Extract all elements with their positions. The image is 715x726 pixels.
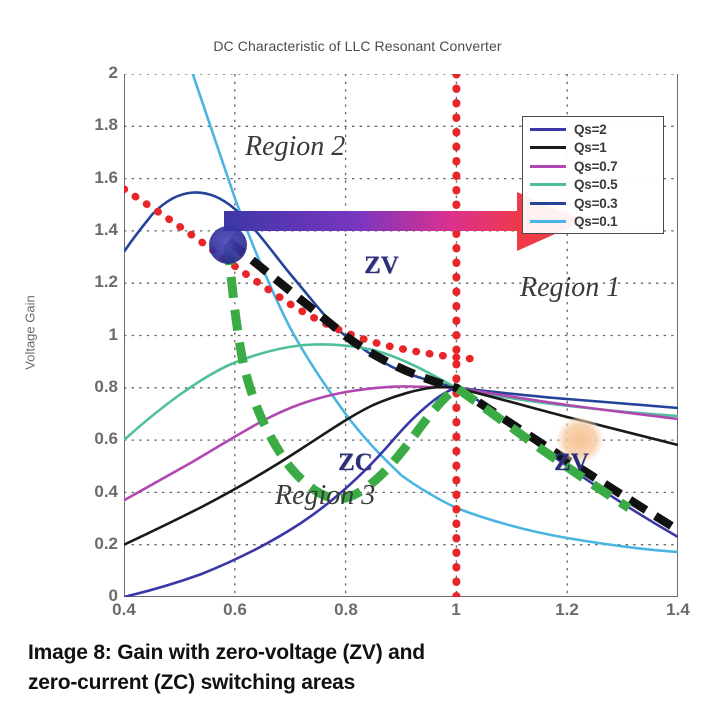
x-tick-0p4: 0.4 — [94, 600, 154, 620]
y-tick-1: 1 — [62, 325, 118, 345]
legend-item-qs2: Qs=2 — [523, 120, 663, 139]
legend-swatch-qs0p1 — [530, 220, 566, 223]
x-axis-ticks: 0.4 0.6 0.8 1 1.2 1.4 — [0, 600, 715, 630]
legend-swatch-qs0p5 — [530, 183, 566, 186]
legend-item-qs0p1: Qs=0.1 — [523, 213, 663, 232]
legend-swatch-qs0p7 — [530, 165, 566, 168]
annotation-zv-lower: ZV — [554, 449, 589, 477]
legend-label-qs0p7: Qs=0.7 — [574, 159, 617, 174]
legend-swatch-qs0p3 — [530, 202, 566, 205]
annotation-zc: ZC — [338, 449, 373, 477]
legend-label-qs2: Qs=2 — [574, 122, 607, 137]
series-qs1 — [124, 387, 678, 545]
legend-label-qs0p3: Qs=0.3 — [574, 196, 617, 211]
y-axis-ticks: 2 1.8 1.6 1.4 1.2 1 0.8 0.6 0.4 0.2 0 — [60, 30, 118, 630]
legend-item-qs1: Qs=1 — [523, 139, 663, 158]
x-tick-1: 1 — [426, 600, 486, 620]
y-tick-0p2: 0.2 — [62, 534, 118, 554]
y-axis-label: Voltage Gain — [23, 295, 38, 369]
x-tick-0p6: 0.6 — [205, 600, 265, 620]
annotation-region-3: Region 3 — [275, 480, 375, 512]
figure-caption: Image 8: Gain with zero-voltage (ZV) and… — [28, 638, 688, 698]
x-tick-1p4: 1.4 — [648, 600, 708, 620]
caption-line-1: Image 8: Gain with zero-voltage (ZV) and — [28, 638, 688, 668]
x-tick-1p2: 1.2 — [537, 600, 597, 620]
y-tick-1p6: 1.6 — [62, 168, 118, 188]
y-tick-1p8: 1.8 — [62, 115, 118, 135]
y-tick-2: 2 — [62, 63, 118, 83]
y-tick-0p8: 0.8 — [62, 377, 118, 397]
x-tick-0p8: 0.8 — [316, 600, 376, 620]
chart-legend: Qs=2 Qs=1 Qs=0.7 Qs=0.5 Qs=0.3 Qs=0.1 — [522, 116, 664, 234]
legend-label-qs0p5: Qs=0.5 — [574, 177, 617, 192]
legend-swatch-qs2 — [530, 128, 566, 131]
legend-label-qs0p1: Qs=0.1 — [574, 214, 617, 229]
marker-operating-point-a — [209, 226, 247, 264]
y-tick-0p4: 0.4 — [62, 482, 118, 502]
legend-swatch-qs1 — [530, 146, 566, 149]
legend-item-qs0p5: Qs=0.5 — [523, 176, 663, 195]
y-tick-1p2: 1.2 — [62, 272, 118, 292]
figure-panel: DC Characteristic of LLC Resonant Conver… — [0, 0, 715, 726]
series-qs2 — [124, 388, 678, 597]
y-tick-1p4: 1.4 — [62, 220, 118, 240]
legend-item-qs0p7: Qs=0.7 — [523, 157, 663, 176]
legend-label-qs1: Qs=1 — [574, 140, 607, 155]
caption-line-2: zero-current (ZC) switching areas — [28, 668, 688, 698]
chart-container: DC Characteristic of LLC Resonant Conver… — [0, 30, 715, 630]
annotation-region-1: Region 1 — [520, 272, 620, 304]
legend-item-qs0p3: Qs=0.3 — [523, 194, 663, 213]
annotation-region-2: Region 2 — [245, 131, 345, 163]
y-tick-0p6: 0.6 — [62, 429, 118, 449]
annotation-zv-upper: ZV — [364, 252, 399, 280]
